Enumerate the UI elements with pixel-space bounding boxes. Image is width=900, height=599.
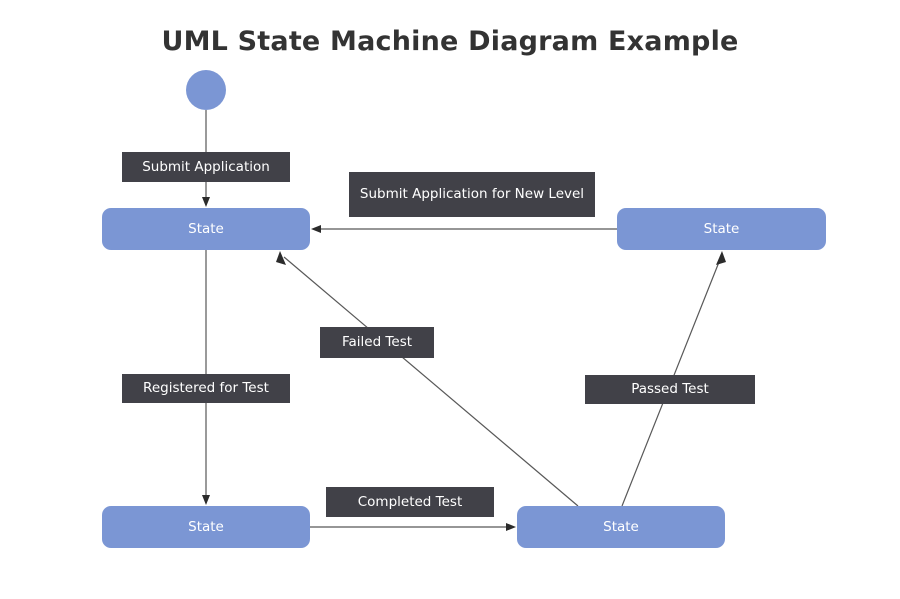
edge-label-submit-application[interactable]: Submit Application xyxy=(122,152,290,182)
state-node-registered-for-test[interactable]: State xyxy=(102,506,310,548)
state-node-label: State xyxy=(603,519,639,535)
arrowhead-passed-test xyxy=(716,251,726,265)
edge-label-registered-for-test[interactable]: Registered for Test xyxy=(122,374,290,403)
state-node-level-requested[interactable]: State xyxy=(617,208,826,250)
edge-label-passed-test[interactable]: Passed Test xyxy=(585,375,755,404)
edge-line-failed-test xyxy=(284,257,578,506)
state-node-label: State xyxy=(188,519,224,535)
arrowhead-submit-application xyxy=(202,197,210,207)
arrowhead-submit-application-new-level xyxy=(311,225,321,233)
state-node-label: State xyxy=(704,221,740,237)
initial-pseudostate-node[interactable] xyxy=(186,70,226,110)
diagram-canvas: UML State Machine Diagram Example xyxy=(0,0,900,599)
state-node-test-completed[interactable]: State xyxy=(517,506,725,548)
edge-label-submit-application-new-level[interactable]: Submit Application for New Level xyxy=(349,172,595,217)
edge-label-failed-test[interactable]: Failed Test xyxy=(320,327,434,358)
state-node-application-submitted[interactable]: State xyxy=(102,208,310,250)
state-node-label: State xyxy=(188,221,224,237)
arrowhead-completed-test xyxy=(506,523,516,531)
edge-label-completed-test[interactable]: Completed Test xyxy=(326,487,494,517)
arrowhead-registered-for-test xyxy=(202,495,210,505)
